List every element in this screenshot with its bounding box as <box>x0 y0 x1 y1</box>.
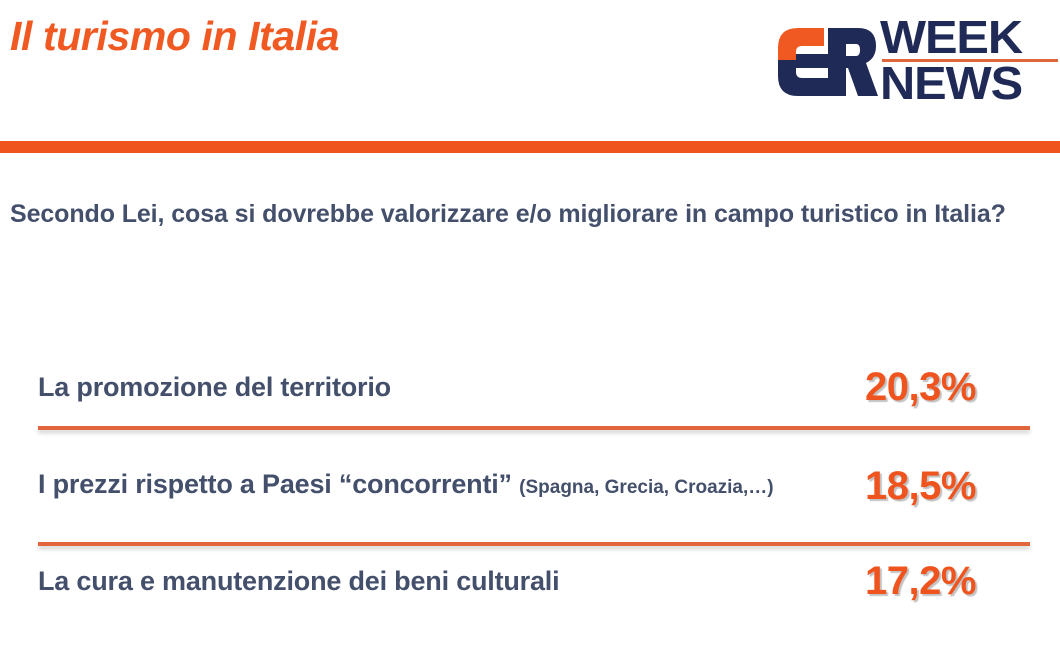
question-text: Secondo Lei, cosa si dovrebbe valorizzar… <box>10 196 1060 233</box>
brand-logo: WEEK NEWS <box>760 10 1060 110</box>
logo-text-news: NEWS <box>880 60 1060 106</box>
logo-text-week: WEEK <box>880 14 1060 60</box>
answer-percentage: 18,5% <box>865 464 1060 509</box>
answer-row: I prezzi rispetto a Paesi “concorrenti” … <box>0 430 1060 542</box>
slide-header: Il turismo in Italia WEEK NEWS <box>0 0 1060 141</box>
answer-row: La promozione del territorio 20,3% <box>0 348 1060 426</box>
answer-percentage: 20,3% <box>865 365 1060 410</box>
answer-label-main: La promozione del territorio <box>38 372 391 402</box>
answer-list: La promozione del territorio 20,3% I pre… <box>0 348 1060 616</box>
answer-row: La cura e manutenzione dei beni cultural… <box>0 546 1060 616</box>
answer-percentage: 17,2% <box>865 559 1060 604</box>
answer-label-detail: (Spagna, Grecia, Croazia,…) <box>519 477 773 498</box>
header-accent-bar <box>0 141 1060 153</box>
er-monogram-icon <box>768 14 878 106</box>
answer-label: La promozione del territorio <box>0 368 865 406</box>
answer-label: La cura e manutenzione dei beni cultural… <box>0 562 865 600</box>
answer-label-main: I prezzi rispetto a Paesi “concorrenti” <box>38 469 519 499</box>
answer-label: I prezzi rispetto a Paesi “concorrenti” … <box>0 465 865 507</box>
page-title: Il turismo in Italia <box>10 13 339 60</box>
answer-label-main: La cura e manutenzione dei beni cultural… <box>38 566 559 596</box>
logo-wordmark: WEEK NEWS <box>880 10 1060 110</box>
